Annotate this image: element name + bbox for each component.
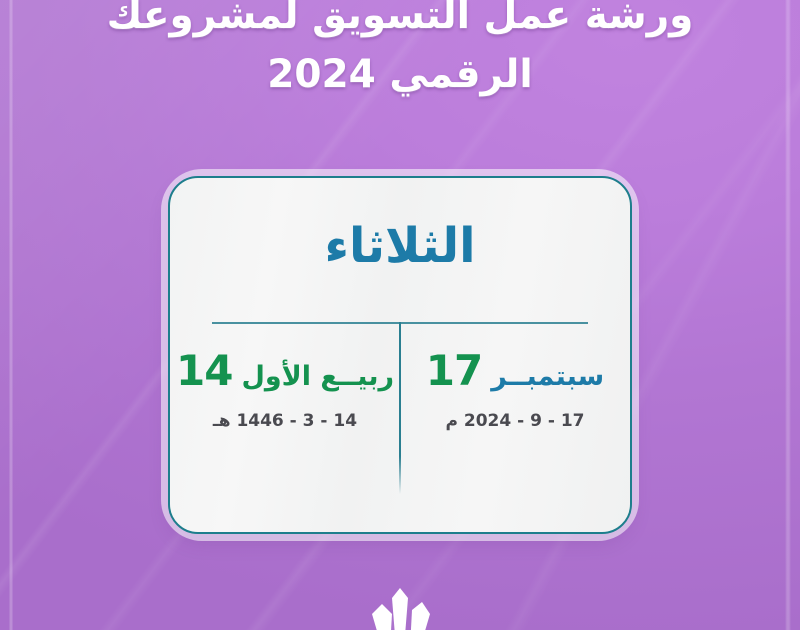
poster-canvas: ورشة عمل التسويق لمشروعك الرقمي 2024 الث… bbox=[0, 0, 800, 630]
gregorian-headline: سبتمبــر 17 bbox=[400, 350, 630, 392]
date-columns: سبتمبــر 17 17 - 9 - 2024 م ربيــع الأول… bbox=[170, 338, 630, 431]
hijri-numeric-date: 14 - 3 - 1446 هـ bbox=[170, 411, 400, 431]
hijri-headline: ربيــع الأول 14 bbox=[170, 350, 400, 392]
date-card-outer-frame: الثلاثاء سبتمبــر 17 17 - 9 - 2024 م ربي… bbox=[168, 176, 632, 534]
gregorian-day-number: 17 bbox=[426, 350, 482, 392]
hijri-date-column: ربيــع الأول 14 14 - 3 - 1446 هـ bbox=[170, 338, 400, 431]
hijri-day-number: 14 bbox=[176, 350, 232, 392]
gregorian-numeric-date: 17 - 9 - 2024 م bbox=[400, 411, 630, 431]
page-title-line-1: ورشة عمل التسويق لمشروعك bbox=[60, 0, 740, 45]
page-title: ورشة عمل التسويق لمشروعك الرقمي 2024 bbox=[0, 0, 800, 104]
date-card: الثلاثاء سبتمبــر 17 17 - 9 - 2024 م ربي… bbox=[168, 176, 632, 534]
hijri-month-name: ربيــع الأول bbox=[241, 363, 394, 390]
gregorian-month-name: سبتمبــر bbox=[491, 363, 604, 390]
day-name: الثلاثاء bbox=[170, 220, 630, 273]
gregorian-date-column: سبتمبــر 17 17 - 9 - 2024 م bbox=[400, 338, 630, 431]
fan-logo-icon bbox=[352, 574, 448, 630]
page-title-line-2: الرقمي 2024 bbox=[60, 45, 740, 104]
